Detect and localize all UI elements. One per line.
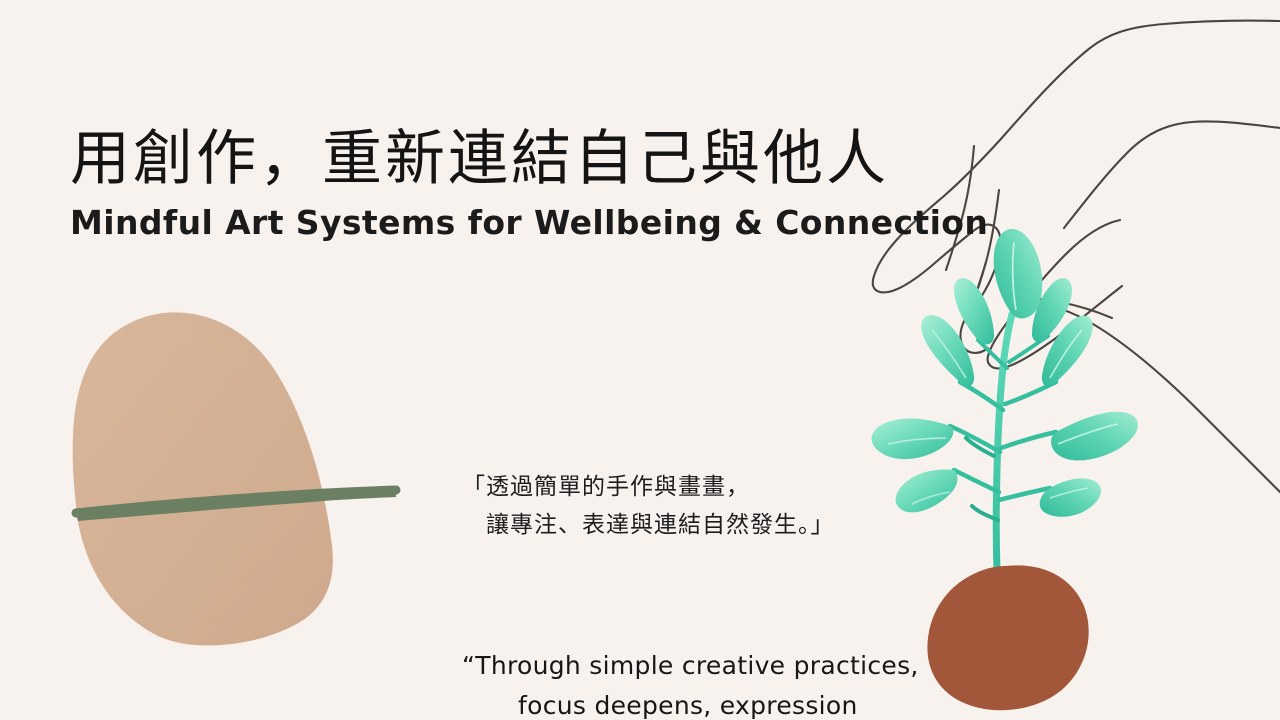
page-subtitle: Mindful Art Systems for Wellbeing & Conn… [70,202,902,244]
quote-block: 「透過簡單的手作與畫畫， 讓專注、表達與連結自然發生。」 “Through si… [462,430,932,720]
quote-english-line-1: “Through simple creative practices, [462,651,919,680]
soil-mound [927,565,1088,710]
quote-english: “Through simple creative practices, focu… [462,606,932,720]
headline-block: 用創作，重新連結自己與他人 Mindful Art Systems for We… [70,122,930,244]
hand-line-art [873,21,1280,492]
slide-canvas: 用創作，重新連結自己與他人 Mindful Art Systems for We… [0,0,1280,720]
quote-chinese: 「透過簡單的手作與畫畫， 讓專注、表達與連結自然發生。」 [462,430,932,582]
sage-brush-stroke [76,490,396,521]
quote-chinese-line-1: 「透過簡單的手作與畫畫， [462,474,750,500]
quote-english-line-2: focus deepens, expression flows, [462,686,932,720]
tan-blob-shape [73,312,333,645]
page-title: 用創作，重新連結自己與他人 [70,122,930,196]
quote-chinese-line-2: 讓專注、表達與連結自然發生。」 [462,506,932,544]
